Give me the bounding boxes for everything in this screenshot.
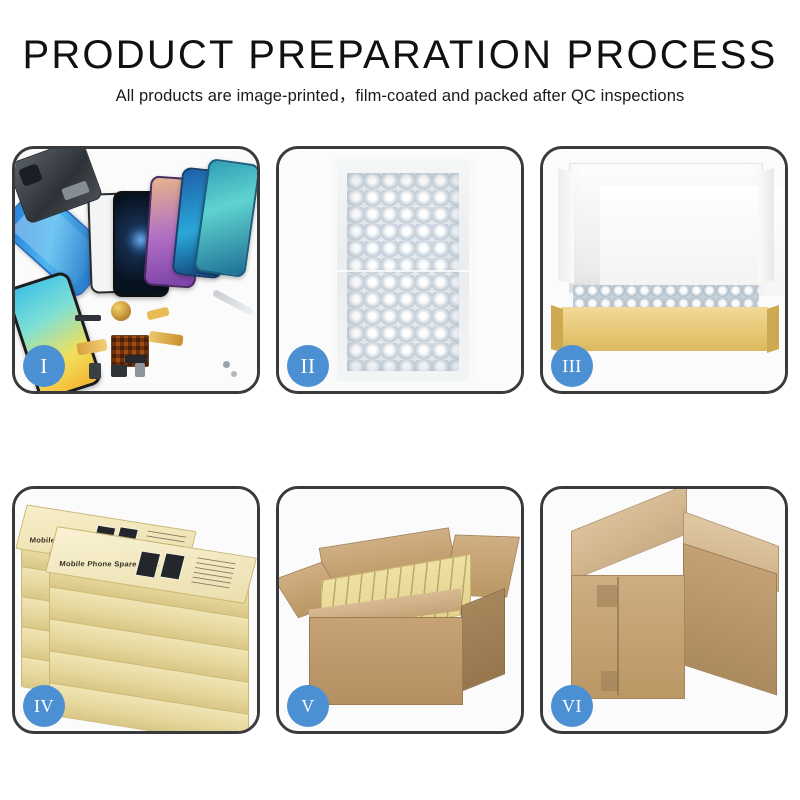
carton-front-face [571,575,685,699]
repair-tweezers-icon [212,289,254,316]
inner-box-lid-icon [569,163,763,293]
carton-side-face [461,588,505,692]
small-part-icon [111,365,127,377]
screw-icon [231,371,237,377]
box-screen-photo [159,552,185,580]
speaker-component-icon [111,301,131,321]
small-part-icon [125,355,147,363]
page-subtitle: All products are image-printed，film-coat… [0,85,800,107]
step-panel-6: VI [540,486,788,734]
screw-icon [223,361,230,368]
flex-cable-icon [146,306,170,320]
step-panel-1: I [12,146,260,394]
step-panel-3: III [540,146,788,394]
flex-cable-icon [148,331,183,347]
carton-front-face [309,617,463,705]
step-panel-2: II [276,146,524,394]
foam-sheet-icon [600,186,784,296]
step-badge-6: VI [551,685,593,727]
bubble-wrap-pouch-icon [331,159,475,381]
step-badge-1: I [23,345,65,387]
carton-top-left-face [571,489,687,581]
header: PRODUCT PREPARATION PROCESS All products… [0,32,800,107]
step-badge-4: IV [23,685,65,727]
process-steps-grid: I II III [12,146,788,734]
page-title: PRODUCT PREPARATION PROCESS [0,32,800,78]
box-screen-photo [135,550,161,578]
step-badge-5: V [287,685,329,727]
connector-bar-icon [75,315,101,321]
small-part-icon [89,363,101,379]
step-panel-4: Mobile Phone Spare Parts Mobile Phone Sp… [12,486,260,734]
carton-tab-bottom [601,671,619,691]
bubble-texture [347,173,459,371]
step-badge-2: II [287,345,329,387]
step-panel-5: V [276,486,524,734]
pouch-seam [337,270,469,272]
step-badge-3: III [551,345,593,387]
carton-tab-top [597,585,617,607]
kraft-box-base-icon [561,307,769,351]
small-part-icon [135,363,145,377]
product-preparation-infographic: PRODUCT PREPARATION PROCESS All products… [0,0,800,800]
box-spec-text [191,557,235,588]
